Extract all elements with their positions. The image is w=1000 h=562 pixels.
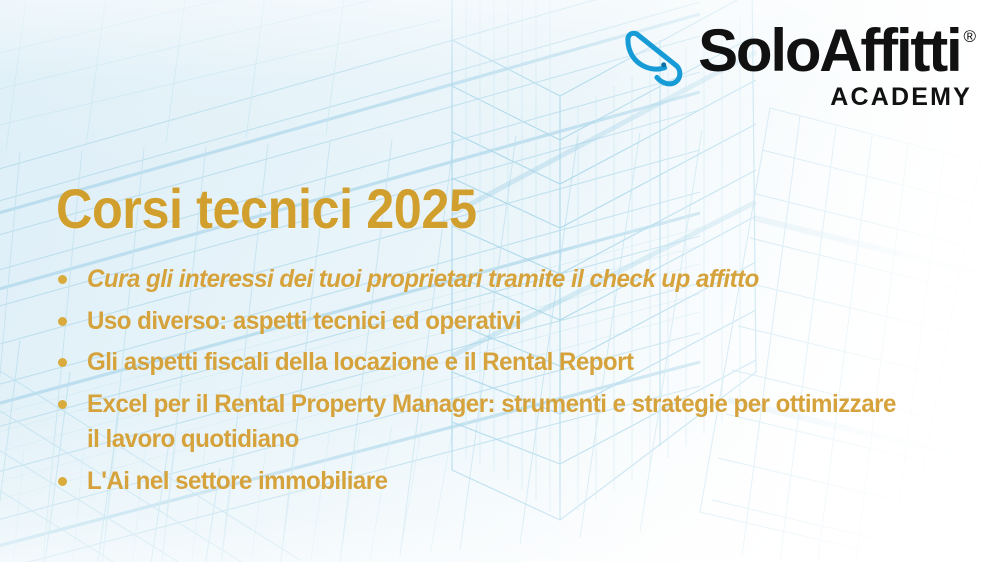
page-title: Corsi tecnici 2025 [56, 181, 477, 237]
brand-logo-text: SoloAffitti ® ACADEMY [698, 22, 976, 112]
course-list: Cura gli interessi dei tuoi proprietari … [58, 262, 938, 505]
list-item: Gli aspetti fiscali della locazione e il… [58, 345, 938, 381]
list-item-label: Gli aspetti fiscali della locazione e il… [87, 345, 633, 381]
bullet-dot-icon [58, 477, 67, 486]
list-item-label: Excel per il Rental Property Manager: st… [87, 387, 908, 458]
bullet-dot-icon [58, 400, 67, 409]
bullet-dot-icon [58, 317, 67, 326]
brand-logo: SoloAffitti ® ACADEMY [624, 22, 976, 112]
sub-brand-name: ACADEMY [830, 83, 972, 112]
list-item: Cura gli interessi dei tuoi proprietari … [58, 262, 938, 298]
list-item-label: Uso diverso: aspetti tecnici ed operativ… [87, 304, 521, 340]
soloaffitti-bird-leaf-icon [624, 30, 686, 90]
bullet-dot-icon [58, 358, 67, 367]
bullet-dot-icon [58, 275, 67, 284]
presentation-slide: SoloAffitti ® ACADEMY Corsi tecnici 2025… [0, 0, 1000, 562]
list-item-label: L'Ai nel settore immobiliare [87, 464, 388, 500]
list-item: Excel per il Rental Property Manager: st… [58, 387, 938, 458]
list-item: L'Ai nel settore immobiliare [58, 464, 938, 500]
list-item-label: Cura gli interessi dei tuoi proprietari … [87, 262, 759, 298]
brand-name: SoloAffitti [698, 22, 960, 81]
list-item: Uso diverso: aspetti tecnici ed operativ… [58, 304, 938, 340]
registered-trademark-icon: ® [963, 28, 976, 45]
